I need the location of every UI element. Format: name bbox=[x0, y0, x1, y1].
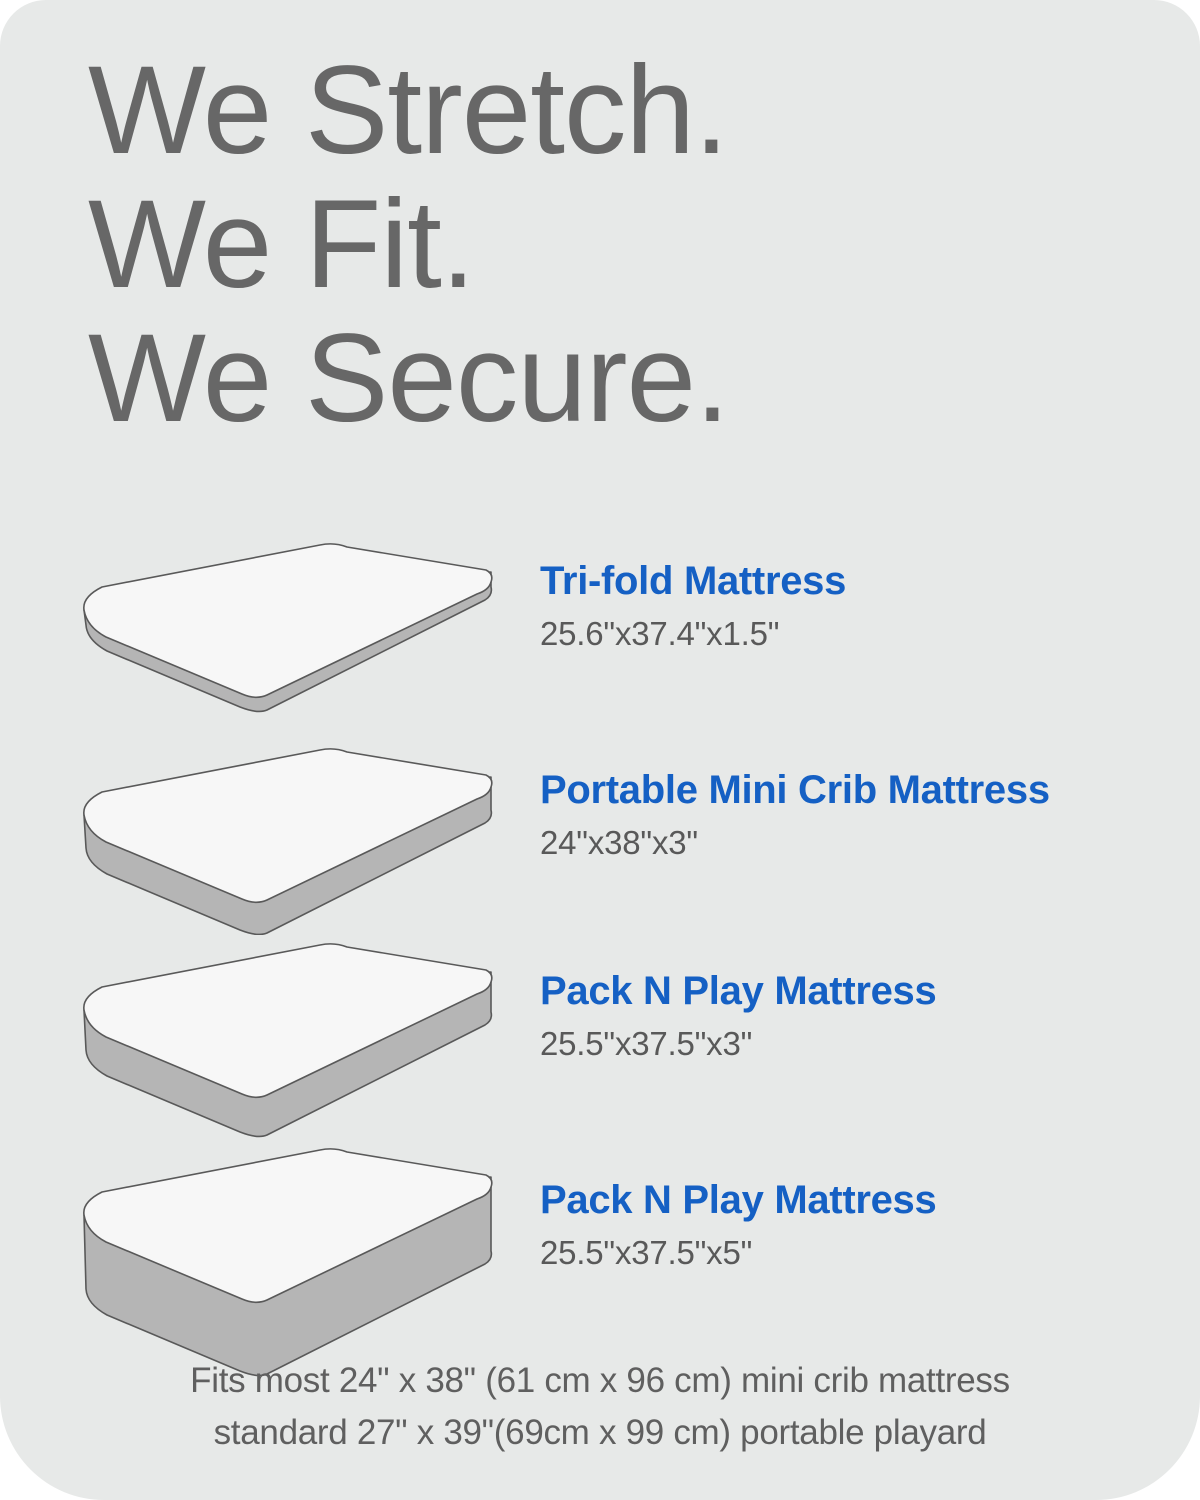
product-title-1: Tri-fold Mattress bbox=[540, 558, 846, 604]
mattress-illustration-3 bbox=[62, 940, 522, 1140]
headline-block: We Stretch. We Fit. We Secure. bbox=[88, 44, 1088, 446]
headline-line-2: We Fit. bbox=[88, 178, 1088, 312]
footer-line-1: Fits most 24" x 38" (61 cm x 96 cm) mini… bbox=[0, 1355, 1200, 1407]
product-label-3: Pack N Play Mattress 25.5"x37.5"x3" bbox=[540, 968, 936, 1064]
product-dimensions-3: 25.5"x37.5"x3" bbox=[540, 1024, 936, 1064]
headline-line-1: We Stretch. bbox=[88, 44, 1088, 178]
footer-line-2: standard 27" x 39"(69cm x 99 cm) portabl… bbox=[0, 1407, 1200, 1459]
mattress-illustration-4 bbox=[62, 1145, 522, 1380]
product-dimensions-4: 25.5"x37.5"x5" bbox=[540, 1233, 936, 1273]
mattress-illustration-2 bbox=[62, 745, 522, 935]
product-label-1: Tri-fold Mattress 25.6"x37.4"x1.5" bbox=[540, 558, 846, 654]
product-dimensions-2: 24"x38"x3" bbox=[540, 823, 1050, 863]
footer-note: Fits most 24" x 38" (61 cm x 96 cm) mini… bbox=[0, 1355, 1200, 1459]
product-info-card: We Stretch. We Fit. We Secure. Tri-fold … bbox=[0, 0, 1200, 1500]
mattress-illustration-1 bbox=[62, 540, 522, 715]
headline-line-3: We Secure. bbox=[88, 312, 1088, 446]
product-title-4: Pack N Play Mattress bbox=[540, 1177, 936, 1223]
product-label-4: Pack N Play Mattress 25.5"x37.5"x5" bbox=[540, 1177, 936, 1273]
product-title-3: Pack N Play Mattress bbox=[540, 968, 936, 1014]
product-dimensions-1: 25.6"x37.4"x1.5" bbox=[540, 614, 846, 654]
product-label-2: Portable Mini Crib Mattress 24"x38"x3" bbox=[540, 767, 1050, 863]
product-title-2: Portable Mini Crib Mattress bbox=[540, 767, 1050, 813]
